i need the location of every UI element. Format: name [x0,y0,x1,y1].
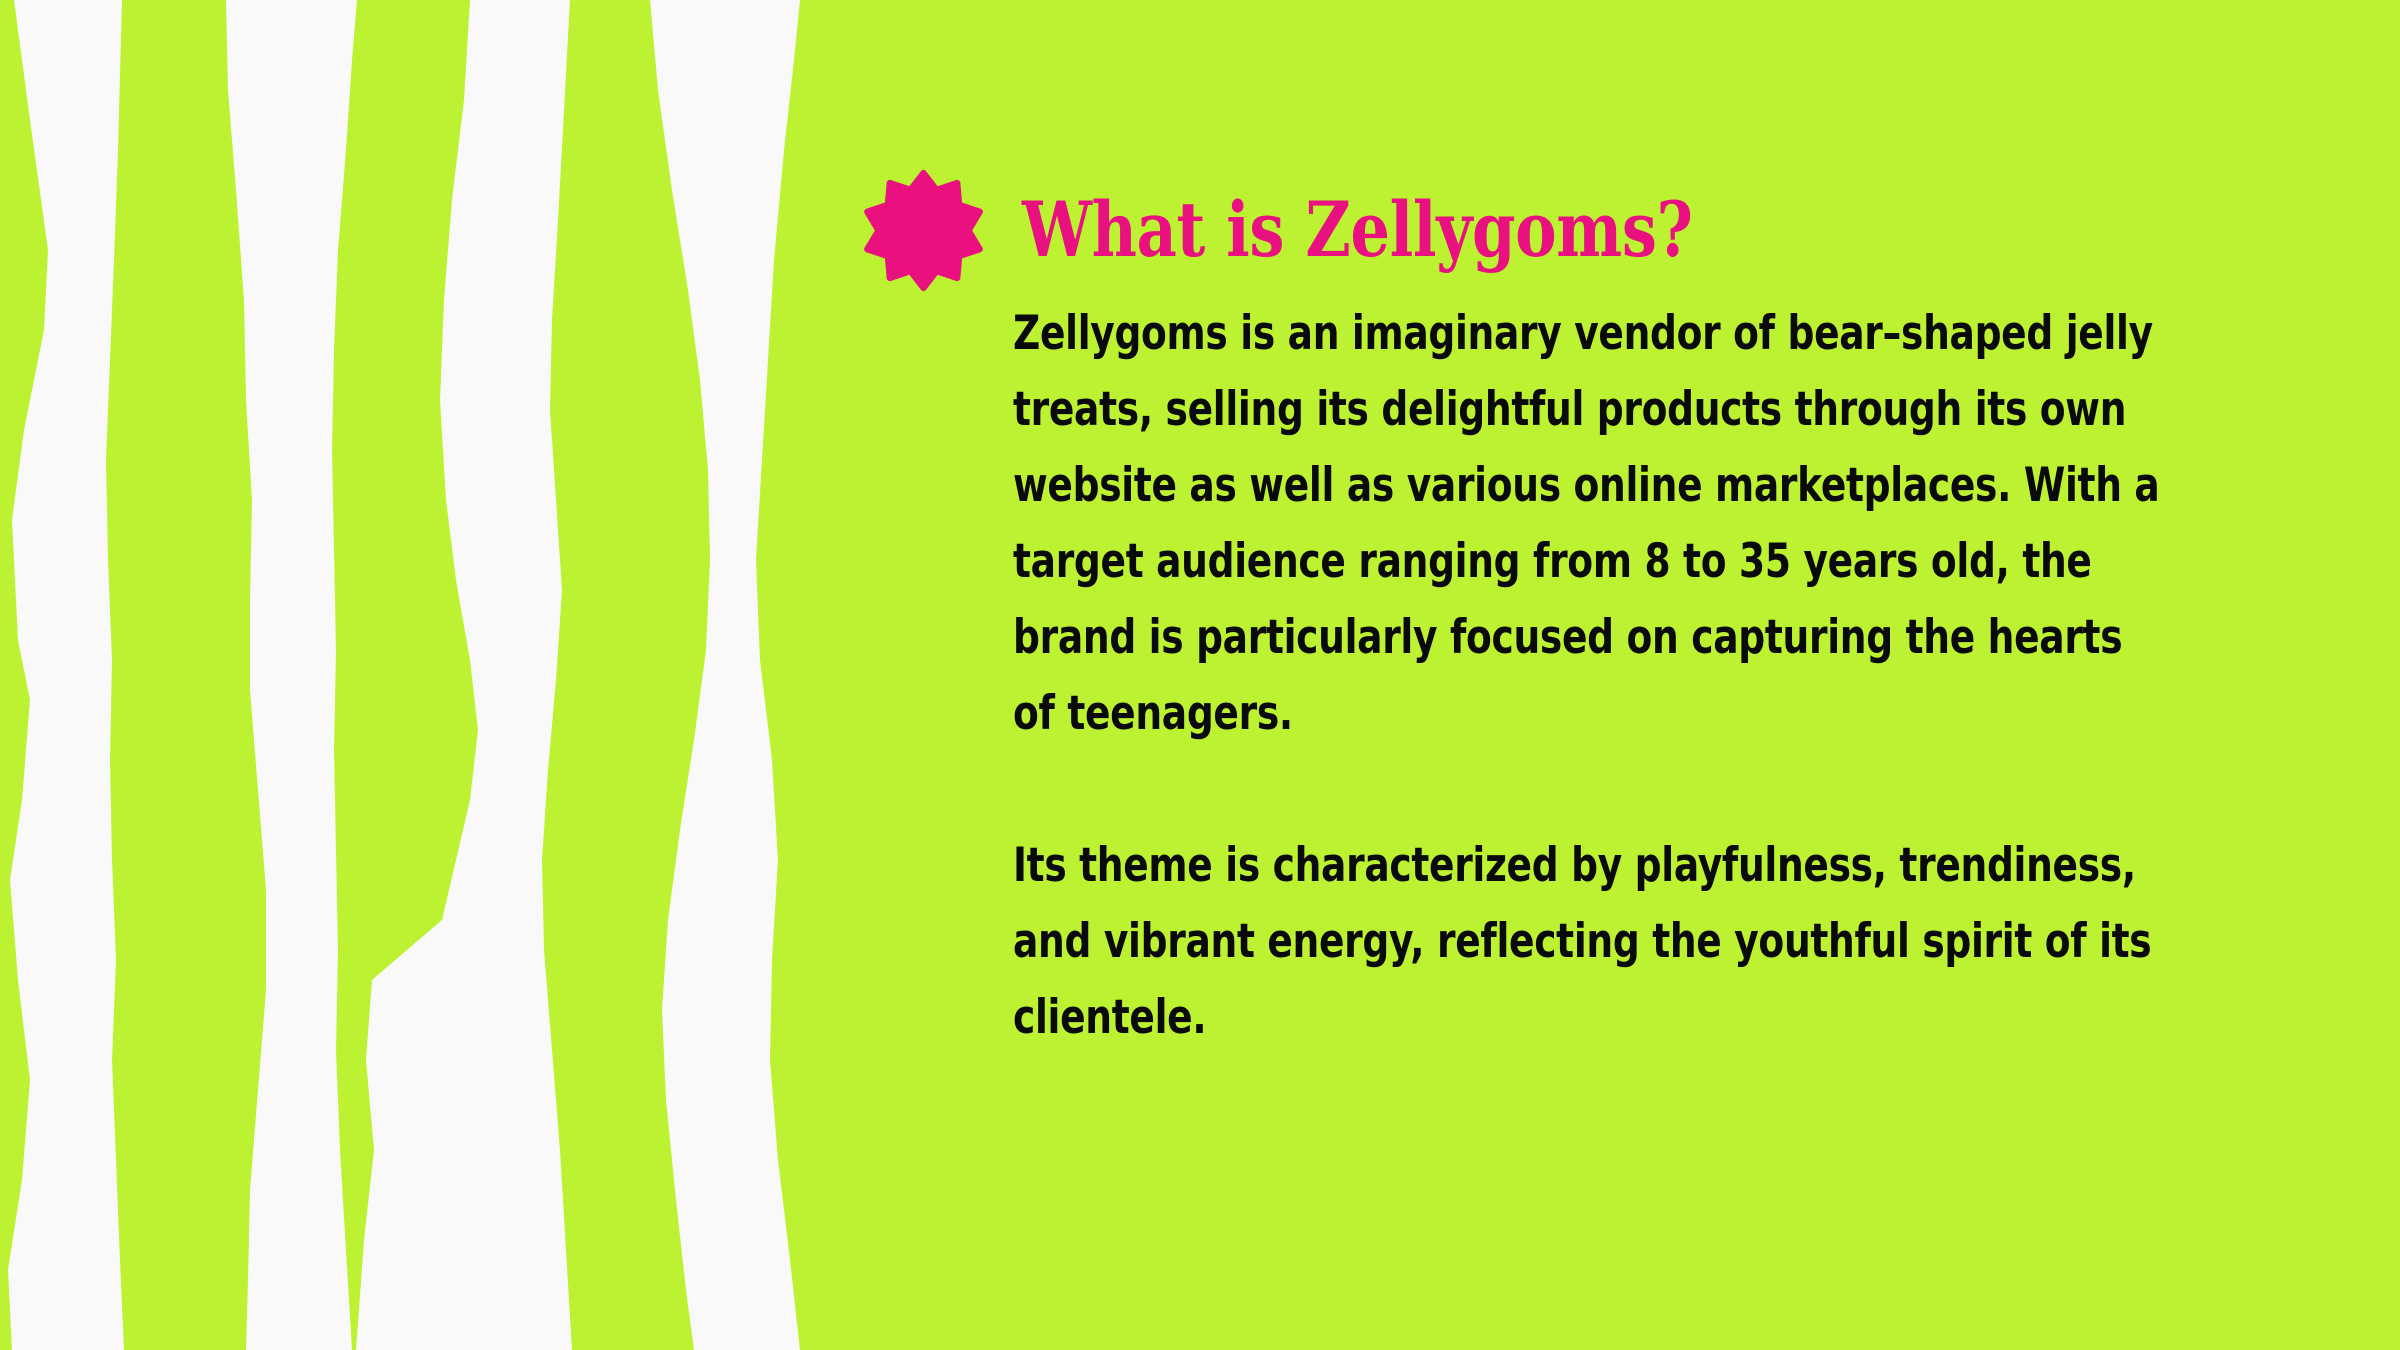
paragraph-1: Zellygoms is an imaginary vendor of bear… [1013,296,2173,752]
starburst-badge-icon [861,168,986,293]
slide-canvas: What is Zellygoms? Zellygoms is an imagi… [0,0,2400,1350]
paragraph-2: Its theme is characterized by playfulnes… [1013,828,2173,1056]
page-title: What is Zellygoms? [1022,192,1693,268]
body-copy: Zellygoms is an imaginary vendor of bear… [1013,296,2173,1056]
content-column: What is Zellygoms? Zellygoms is an imagi… [1013,0,2193,1350]
decorative-stripe-panel [0,0,820,1350]
wavy-stripes-graphic [0,0,820,1350]
heading-row: What is Zellygoms? [861,160,1840,300]
